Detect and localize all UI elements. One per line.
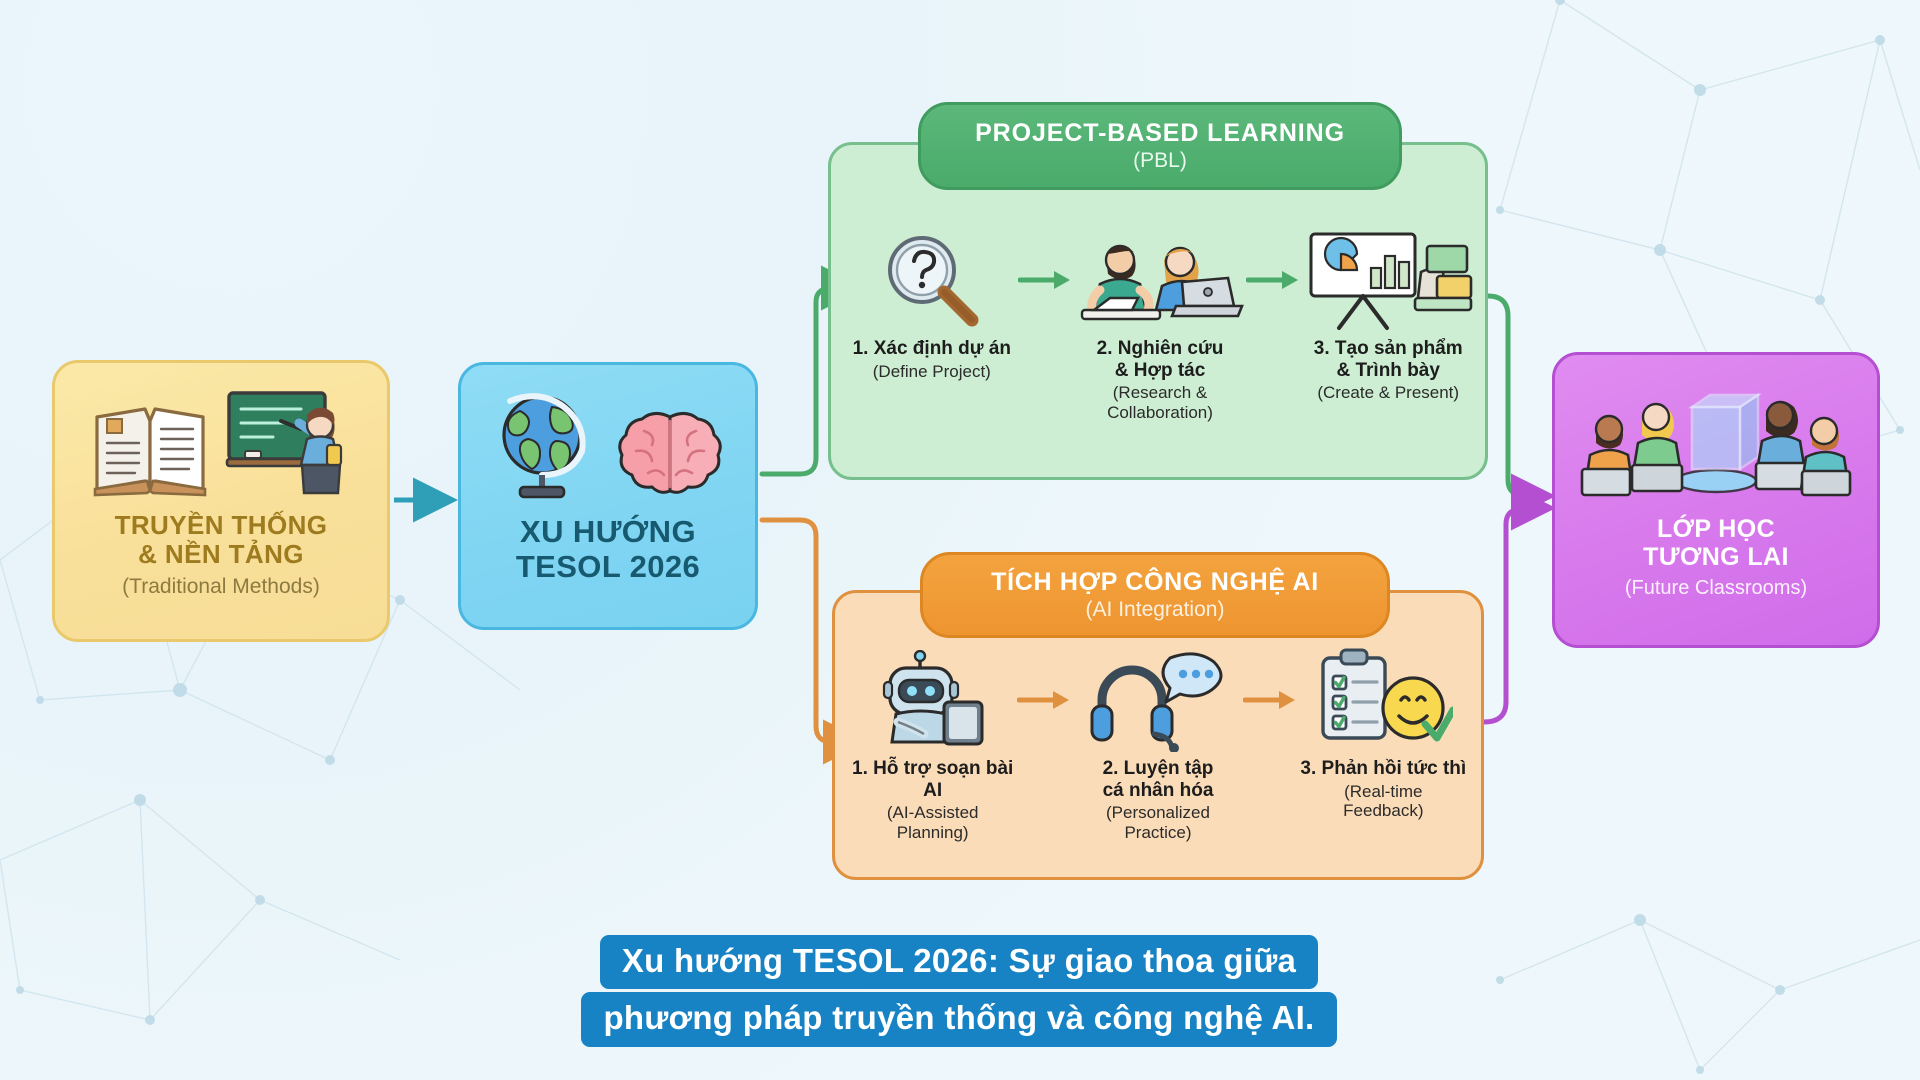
teacher-chalkboard-icon: [223, 385, 351, 497]
brain-icon: [614, 407, 726, 503]
pbl-step-2-label: 2. Nghiên cứu & Hợp tác: [1097, 338, 1224, 381]
ai-step-1-english-line2: Planning): [887, 823, 979, 842]
ai-header-subtitle: (AI Integration): [1086, 598, 1225, 622]
ai-step-2-english: (Personalized Practice): [1073, 803, 1242, 842]
traditional-subtitle: (Traditional Methods): [55, 575, 387, 599]
ai-step-1-art: [870, 648, 996, 752]
pbl-step-3[interactable]: 3. Tạo sản phẩm & Trình bày (Create & Pr…: [1302, 228, 1474, 403]
pbl-step-3-art: [1303, 228, 1473, 332]
headset-chat-icon: [1088, 648, 1228, 752]
ai-steps-row: 1. Hỗ trợ soạn bài AI (AI-Assisted Plann…: [848, 648, 1468, 842]
card-tesol-trend[interactable]: XU HƯỚNG TESOL 2026: [458, 362, 758, 630]
robot-tablet-icon: [870, 650, 996, 752]
pbl-step-1-art: [876, 228, 988, 332]
ai-header-title: TÍCH HỢP CÔNG NGHỆ AI: [991, 568, 1319, 597]
card-future-classrooms[interactable]: LỚP HỌC TƯƠNG LAI (Future Classrooms): [1552, 352, 1880, 648]
trend-icon-group: [461, 381, 755, 503]
ai-step-2-art: [1088, 648, 1228, 752]
pbl-step-3-label: 3. Tạo sản phẩm & Trình bày: [1314, 338, 1463, 381]
ai-step-2[interactable]: 2. Luyện tập cá nhân hóa (Personalized P…: [1073, 648, 1242, 842]
students-hologram-classroom-icon: [1580, 377, 1852, 505]
pbl-arrow-1: [1018, 228, 1075, 332]
future-icon-group: [1555, 375, 1877, 505]
ai-step-3-art: [1313, 648, 1453, 752]
pbl-step-2-english-line1: (Research &: [1107, 383, 1213, 402]
magnifier-question-icon: [876, 230, 988, 332]
traditional-title-line2: & NỀN TẢNG: [55, 540, 387, 569]
ai-step-1-label: 1. Hỗ trợ soạn bài AI: [848, 758, 1017, 801]
pbl-step-1[interactable]: 1. Xác định dự án (Define Project): [846, 228, 1018, 381]
globe-icon: [490, 387, 600, 503]
pbl-step-2[interactable]: 2. Nghiên cứu & Hợp tác (Research & Coll…: [1074, 228, 1246, 422]
caption-line1: Xu hướng TESOL 2026: Sự giao thoa giữa: [600, 935, 1318, 989]
arrow-right-icon: [1017, 688, 1073, 712]
ai-step-3-english-line1: (Real-time: [1343, 782, 1423, 801]
trend-title: XU HƯỚNG TESOL 2026: [461, 515, 755, 584]
traditional-title-line1: TRUYỀN THỐNG: [55, 511, 387, 540]
pbl-steps-row: 1. Xác định dự án (Define Project): [846, 228, 1474, 422]
pbl-header-title: PROJECT-BASED LEARNING: [975, 119, 1345, 148]
ai-step-3[interactable]: 3. Phản hồi tức thì (Real-time Feedback): [1299, 648, 1468, 820]
students-collaborating-icon: [1076, 232, 1244, 332]
arrow-right-icon: [1243, 688, 1299, 712]
future-subtitle: (Future Classrooms): [1555, 577, 1877, 600]
traditional-icon-group: [55, 379, 387, 497]
traditional-title: TRUYỀN THỐNG & NỀN TẢNG: [55, 511, 387, 569]
card-traditional-methods[interactable]: TRUYỀN THỐNG & NỀN TẢNG (Traditional Met…: [52, 360, 390, 642]
pbl-header-subtitle: (PBL): [1133, 149, 1187, 173]
header-ai-integration[interactable]: TÍCH HỢP CÔNG NGHỆ AI (AI Integration): [920, 552, 1390, 638]
bottom-caption: Xu hướng TESOL 2026: Sự giao thoa giữa p…: [497, 935, 1421, 1047]
future-title-line2: TƯƠNG LAI: [1555, 543, 1877, 571]
future-title-line1: LỚP HỌC: [1555, 515, 1877, 543]
arrow-right-icon: [1018, 268, 1074, 292]
open-book-icon: [91, 401, 209, 497]
pbl-step-2-label-line2: & Hợp tác: [1097, 360, 1224, 382]
ai-step-1-english-line1: (AI-Assisted: [887, 803, 979, 822]
pbl-step-2-english: (Research & Collaboration): [1107, 383, 1213, 422]
ai-step-1[interactable]: 1. Hỗ trợ soạn bài AI (AI-Assisted Plann…: [848, 648, 1017, 842]
future-title: LỚP HỌC TƯƠNG LAI: [1555, 515, 1877, 571]
ai-step-3-english-line2: Feedback): [1343, 801, 1423, 820]
pbl-step-2-art: [1076, 228, 1244, 332]
arrow-right-icon: [1246, 268, 1302, 292]
ai-step-1-english: (AI-Assisted Planning): [887, 803, 979, 842]
pbl-step-2-english-line2: Collaboration): [1107, 403, 1213, 422]
ai-arrow-1: [1017, 648, 1073, 752]
ai-step-3-english: (Real-time Feedback): [1343, 782, 1423, 821]
pbl-step-3-english: (Create & Present): [1317, 383, 1459, 402]
ai-step-2-label-line2: cá nhân hóa: [1103, 780, 1214, 802]
pbl-step-1-label: 1. Xác định dự án: [853, 338, 1011, 360]
caption-line2: phương pháp truyền thống và công nghệ AI…: [581, 992, 1336, 1046]
ai-step-3-label: 3. Phản hồi tức thì: [1300, 758, 1466, 780]
ai-step-2-label: 2. Luyện tập cá nhân hóa: [1103, 758, 1214, 801]
pbl-step-2-label-line1: 2. Nghiên cứu: [1097, 338, 1224, 360]
trend-title-line2: TESOL 2026: [461, 550, 755, 585]
trend-title-line1: XU HƯỚNG: [461, 515, 755, 550]
header-project-based-learning[interactable]: PROJECT-BASED LEARNING (PBL): [918, 102, 1402, 190]
pbl-step-3-label-line2: & Trình bày: [1314, 360, 1463, 382]
checklist-smiley-icon: [1313, 648, 1453, 752]
pbl-arrow-2: [1246, 228, 1303, 332]
ai-arrow-2: [1243, 648, 1299, 752]
ai-step-2-label-line1: 2. Luyện tập: [1103, 758, 1214, 780]
pbl-step-3-label-line1: 3. Tạo sản phẩm: [1314, 338, 1463, 360]
pbl-step-1-english: (Define Project): [873, 362, 991, 381]
presentation-board-icon: [1303, 228, 1473, 332]
